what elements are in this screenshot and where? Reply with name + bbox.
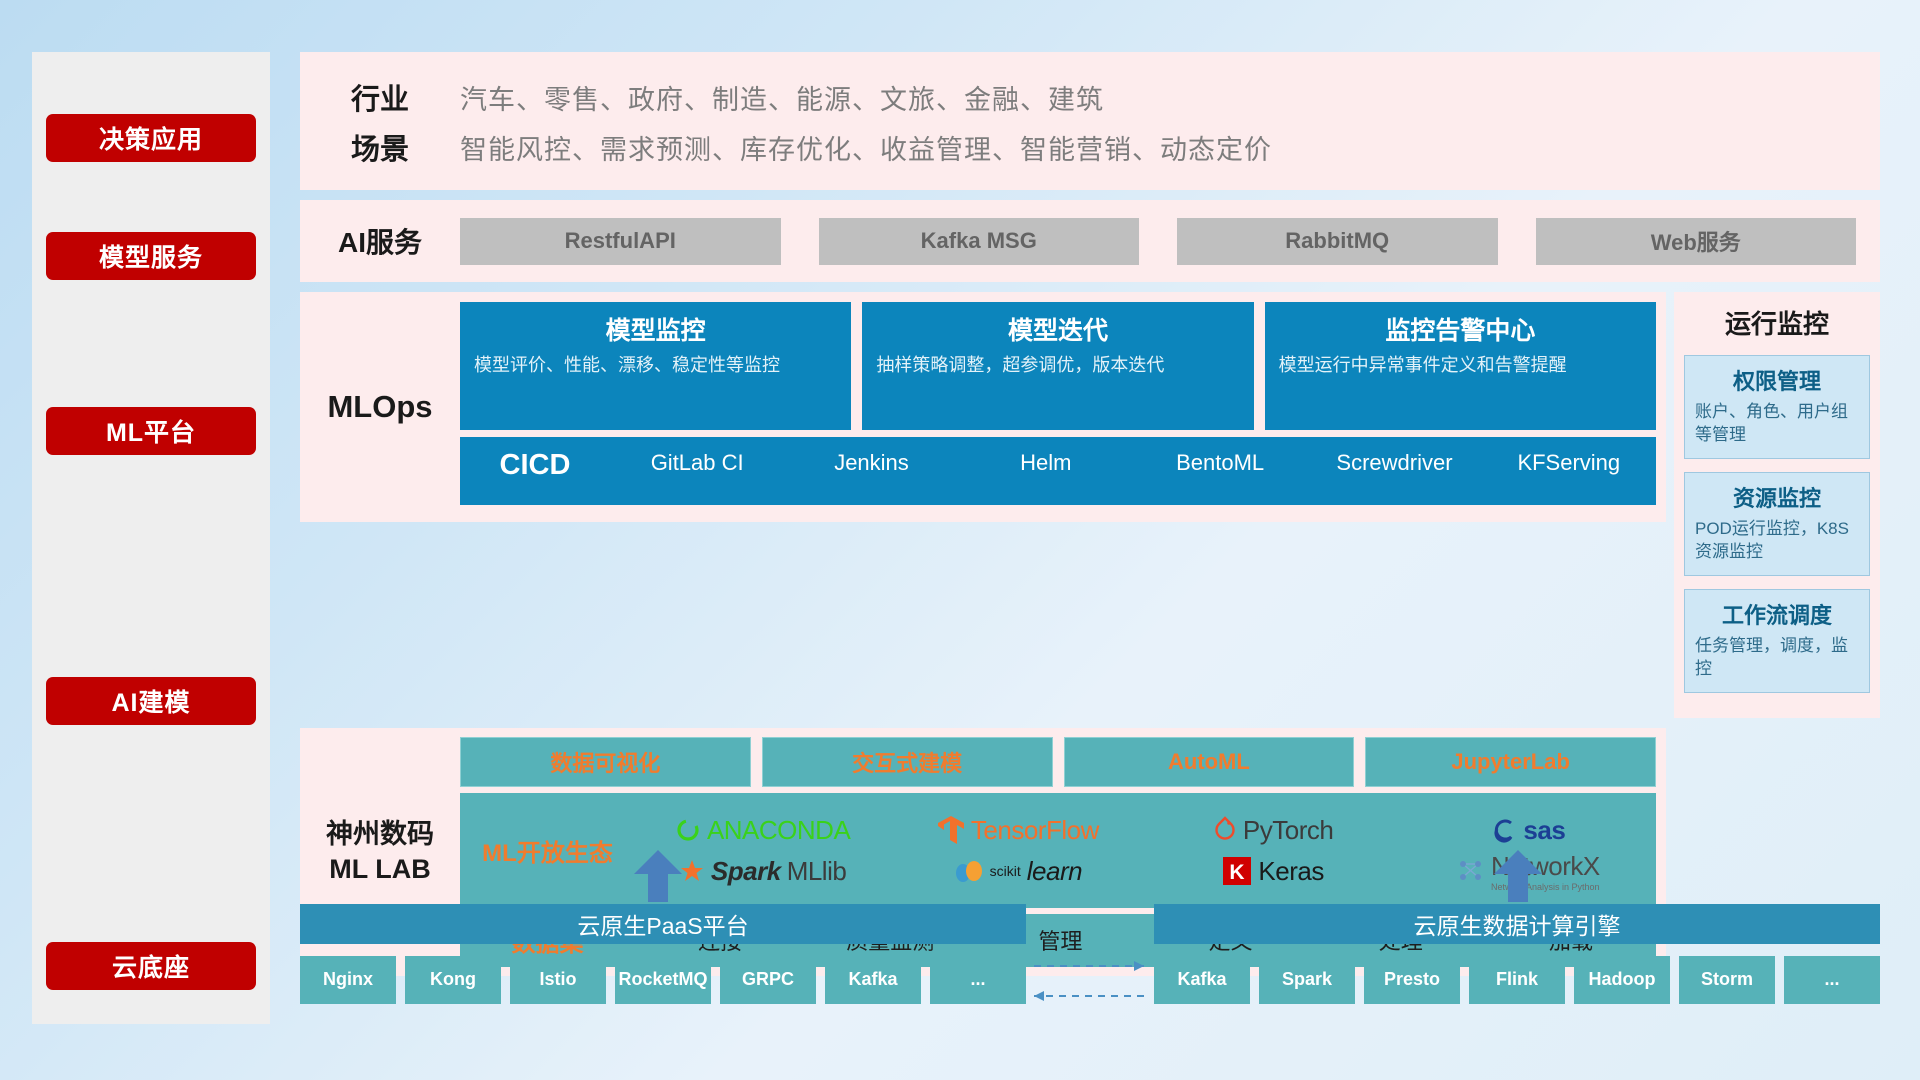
monitor-card-permission[interactable]: 权限管理 账户、角色、用户组等管理 bbox=[1684, 355, 1870, 459]
cloud-chip[interactable]: Hadoop bbox=[1574, 956, 1670, 1004]
mlops-body: 模型监控 模型评价、性能、漂移、稳定性等监控 模型迭代 抽样策略调整，超参调优，… bbox=[460, 302, 1666, 512]
logo-label: ANACONDA bbox=[707, 815, 850, 846]
cicd-title: CICD bbox=[460, 449, 610, 482]
cloud-link-gap bbox=[1026, 860, 1154, 1028]
layer-pill-label: 决策应用 bbox=[99, 120, 203, 156]
scenario-row: 场景 智能风控、需求预测、库存优化、收益管理、智能营销、动态定价 bbox=[300, 122, 1880, 172]
ai-service-chip[interactable]: RabbitMQ bbox=[1177, 218, 1498, 265]
mlops-card-desc: 模型运行中异常事件定义和告警提醒 bbox=[1279, 354, 1642, 378]
monitor-card-title: 资源监控 bbox=[1695, 481, 1859, 513]
layer-pill-decision-app[interactable]: 决策应用 bbox=[46, 114, 256, 162]
monitor-card-title: 工作流调度 bbox=[1695, 598, 1859, 630]
mllab-tool-chip[interactable]: 数据可视化 bbox=[460, 737, 751, 788]
bidirectional-dashed-arrows bbox=[1026, 860, 1154, 1028]
mlops-card-model-iteration[interactable]: 模型迭代 抽样策略调整，超参调优，版本迭代 bbox=[862, 302, 1253, 430]
mlops-card-desc: 模型评价、性能、漂移、稳定性等监控 bbox=[474, 354, 837, 378]
logo-anaconda[interactable]: ANACONDA bbox=[635, 810, 890, 851]
logo-tensorflow[interactable]: TensorFlow bbox=[890, 810, 1145, 851]
logo-pytorch[interactable]: PyTorch bbox=[1146, 810, 1401, 851]
monitor-card-workflow[interactable]: 工作流调度 任务管理，调度，监控 bbox=[1684, 589, 1870, 693]
industry-value: 汽车、零售、政府、制造、能源、文旅、金融、建筑 bbox=[460, 78, 1104, 117]
cloud-compute-banner[interactable]: 云原生数据计算引擎 bbox=[1154, 904, 1880, 944]
cloud-chip[interactable]: Kafka bbox=[1154, 956, 1250, 1004]
logo-label: TensorFlow bbox=[971, 815, 1099, 846]
cloud-chip[interactable]: Spark bbox=[1259, 956, 1355, 1004]
ai-service-chip[interactable]: RestfulAPI bbox=[460, 218, 781, 265]
mllab-tool-chip[interactable]: 交互式建模 bbox=[762, 737, 1053, 788]
monitor-card-desc: 任务管理，调度，监控 bbox=[1695, 635, 1859, 681]
cloud-chip[interactable]: RocketMQ bbox=[615, 956, 711, 1004]
cicd-item[interactable]: Jenkins bbox=[784, 449, 958, 477]
mllab-label-line1: 神州数码 bbox=[326, 817, 434, 852]
industry-scenario-band: 行业 汽车、零售、政府、制造、能源、文旅、金融、建筑 场景 智能风控、需求预测、… bbox=[300, 52, 1880, 190]
monitor-card-desc: 账户、角色、用户组等管理 bbox=[1695, 401, 1859, 447]
tensorflow-icon bbox=[937, 815, 965, 845]
layer-pill-label: ML平台 bbox=[106, 413, 196, 449]
mlops-card-list: 模型监控 模型评价、性能、漂移、稳定性等监控 模型迭代 抽样策略调整，超参调优，… bbox=[460, 302, 1656, 430]
ai-service-chip[interactable]: Web服务 bbox=[1536, 218, 1857, 265]
cloud-chip[interactable]: GRPC bbox=[720, 956, 816, 1004]
cloud-chip[interactable]: Storm bbox=[1679, 956, 1775, 1004]
cicd-item[interactable]: BentoML bbox=[1133, 449, 1307, 477]
pytorch-icon bbox=[1213, 816, 1237, 844]
mllab-tool-chip[interactable]: JupyterLab bbox=[1365, 737, 1656, 788]
cicd-bar: CICD GitLab CI Jenkins Helm BentoML Scre… bbox=[460, 437, 1656, 505]
industry-row: 行业 汽车、零售、政府、制造、能源、文旅、金融、建筑 bbox=[300, 72, 1880, 122]
cloud-chip[interactable]: ... bbox=[1784, 956, 1880, 1004]
layer-pill-label: AI建模 bbox=[111, 683, 190, 719]
cicd-item[interactable]: Helm bbox=[959, 449, 1133, 477]
layer-pill-label: 云底座 bbox=[112, 948, 190, 984]
layer-pill-ai-modeling[interactable]: AI建模 bbox=[46, 677, 256, 725]
layer-label-column: 决策应用 模型服务 ML平台 AI建模 云底座 bbox=[32, 52, 270, 1024]
monitor-card-resource[interactable]: 资源监控 POD运行监控，K8S资源监控 bbox=[1684, 472, 1870, 576]
mllab-tool-list: 数据可视化 交互式建模 AutoML JupyterLab bbox=[460, 737, 1656, 788]
cloud-chip[interactable]: Nginx bbox=[300, 956, 396, 1004]
logo-label: sas bbox=[1523, 815, 1565, 846]
ai-service-label: AI服务 bbox=[300, 221, 460, 261]
cloud-chip[interactable]: Istio bbox=[510, 956, 606, 1004]
architecture-stack: 行业 汽车、零售、政府、制造、能源、文旅、金融、建筑 场景 智能风控、需求预测、… bbox=[300, 52, 1880, 976]
cloud-chip[interactable]: Kong bbox=[405, 956, 501, 1004]
up-arrow-paas-icon bbox=[630, 848, 686, 904]
sas-icon bbox=[1491, 817, 1517, 843]
cloud-base-section: 云原生PaaS平台 Nginx Kong Istio RocketMQ GRPC… bbox=[300, 860, 1880, 1028]
mlops-band-wrapper: MLOps 模型监控 模型评价、性能、漂移、稳定性等监控 模型迭代 抽样策略调整… bbox=[300, 292, 1880, 718]
mlops-card-desc: 抽样策略调整，超参调优，版本迭代 bbox=[876, 354, 1239, 378]
anaconda-icon bbox=[675, 817, 701, 843]
mlops-card-model-monitoring[interactable]: 模型监控 模型评价、性能、漂移、稳定性等监控 bbox=[460, 302, 851, 430]
monitor-card-desc: POD运行监控，K8S资源监控 bbox=[1695, 518, 1859, 564]
layer-pill-cloud-base[interactable]: 云底座 bbox=[46, 942, 256, 990]
layer-pill-ml-platform[interactable]: ML平台 bbox=[46, 407, 256, 455]
scenario-key: 场景 bbox=[300, 126, 460, 168]
industry-key: 行业 bbox=[300, 76, 460, 118]
cloud-chip[interactable]: Presto bbox=[1364, 956, 1460, 1004]
layer-pill-label: 模型服务 bbox=[99, 238, 203, 274]
ai-service-chip-list: RestfulAPI Kafka MSG RabbitMQ Web服务 bbox=[460, 218, 1880, 265]
ai-service-band: AI服务 RestfulAPI Kafka MSG RabbitMQ Web服务 bbox=[300, 200, 1880, 282]
cicd-item[interactable]: Screwdriver bbox=[1307, 449, 1481, 477]
cloud-paas-chip-list: Nginx Kong Istio RocketMQ GRPC Kafka ... bbox=[300, 956, 1026, 1004]
runtime-monitoring-panel: 运行监控 权限管理 账户、角色、用户组等管理 资源监控 POD运行监控，K8S资… bbox=[1674, 292, 1880, 718]
mlops-label: MLOps bbox=[300, 302, 460, 512]
mlops-card-title: 模型监控 bbox=[474, 311, 837, 347]
mlops-card-title: 监控告警中心 bbox=[1279, 311, 1642, 347]
cicd-item[interactable]: GitLab CI bbox=[610, 449, 784, 477]
mlops-card-title: 模型迭代 bbox=[876, 311, 1239, 347]
mlops-band: MLOps 模型监控 模型评价、性能、漂移、稳定性等监控 模型迭代 抽样策略调整… bbox=[300, 292, 1666, 522]
cloud-paas-banner[interactable]: 云原生PaaS平台 bbox=[300, 904, 1026, 944]
cloud-chip[interactable]: Flink bbox=[1469, 956, 1565, 1004]
monitor-card-title: 权限管理 bbox=[1695, 364, 1859, 396]
cicd-item[interactable]: KFServing bbox=[1482, 449, 1656, 477]
logo-sas[interactable]: sas bbox=[1401, 810, 1656, 851]
runtime-monitoring-title: 运行监控 bbox=[1684, 304, 1870, 341]
scenario-value: 智能风控、需求预测、库存优化、收益管理、智能营销、动态定价 bbox=[460, 128, 1272, 167]
cloud-chip[interactable]: ... bbox=[930, 956, 1026, 1004]
ai-service-chip[interactable]: Kafka MSG bbox=[819, 218, 1140, 265]
cloud-chip[interactable]: Kafka bbox=[825, 956, 921, 1004]
mlops-card-alert-center[interactable]: 监控告警中心 模型运行中异常事件定义和告警提醒 bbox=[1265, 302, 1656, 430]
up-arrow-compute-icon bbox=[1490, 848, 1546, 904]
mllab-tool-chip[interactable]: AutoML bbox=[1064, 737, 1355, 788]
layer-pill-model-service[interactable]: 模型服务 bbox=[46, 232, 256, 280]
cloud-compute-chip-list: Kafka Spark Presto Flink Hadoop Storm ..… bbox=[1154, 956, 1880, 1004]
logo-label: PyTorch bbox=[1243, 815, 1333, 846]
